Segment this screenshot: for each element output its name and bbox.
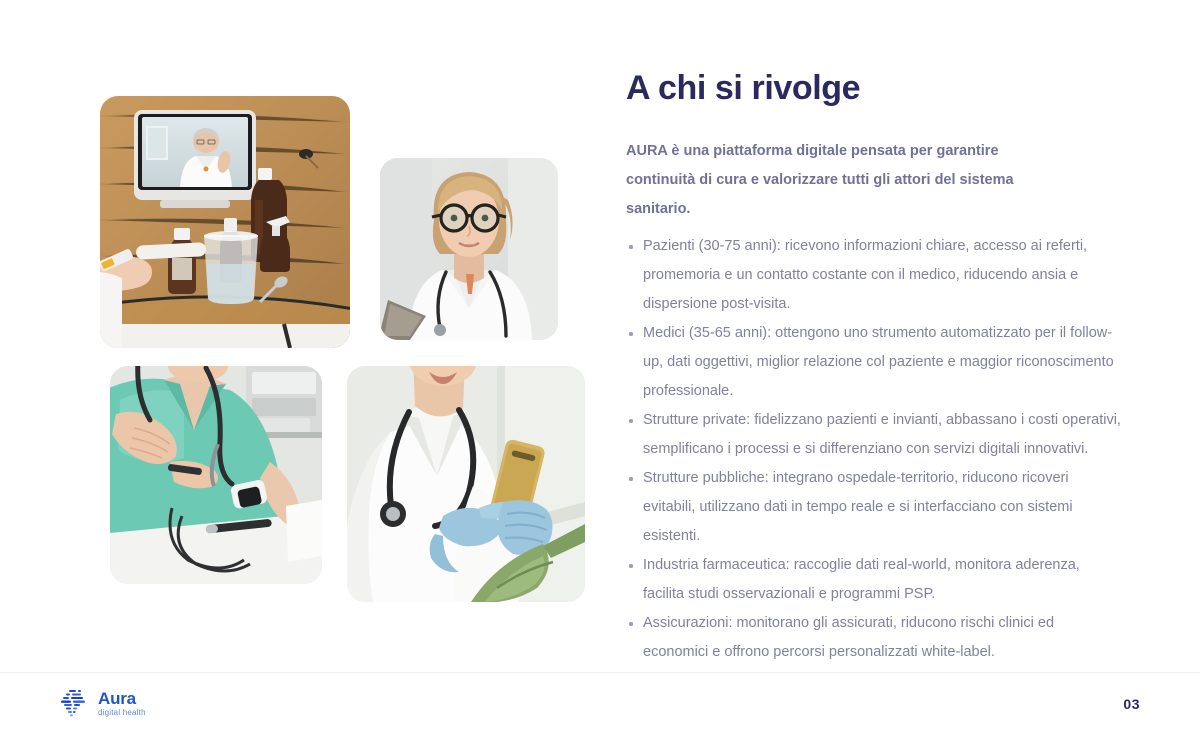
logo-name: Aura — [98, 690, 146, 707]
slide: A chi si rivolge AURA è una piattaforma … — [0, 0, 1200, 738]
list-item: Strutture private: fidelizzano pazienti … — [626, 406, 1122, 464]
logo-text: Aura digital health — [98, 690, 146, 717]
photo-doctor-gloves-smartphone — [347, 366, 585, 602]
nurse-desk-illustration — [110, 366, 322, 584]
brand-logo: Aura digital health — [60, 688, 146, 718]
doctor-phone-illustration — [347, 366, 585, 602]
photo-nurse-teal-scrubs-desk — [110, 366, 322, 584]
telemedicine-illustration — [100, 96, 350, 348]
content-column: A chi si rivolge AURA è una piattaforma … — [626, 70, 1126, 667]
list-item: Pazienti (30-75 anni): ricevono informaz… — [626, 232, 1122, 319]
list-item: Strutture pubbliche: integrano ospedale-… — [626, 464, 1122, 551]
photo-telemedicine-tablet-consult — [100, 96, 350, 348]
image-gallery — [0, 0, 620, 660]
page-title: A chi si rivolge — [626, 70, 1126, 107]
page-number: 03 — [1123, 696, 1140, 712]
audience-list: Pazienti (30-75 anni): ricevono informaz… — [626, 232, 1126, 667]
intro-paragraph: AURA è una piattaforma digitale pensata … — [626, 137, 1056, 224]
list-item: Industria farmaceutica: raccoglie dati r… — [626, 551, 1122, 609]
logo-tagline: digital health — [98, 709, 146, 717]
list-item: Medici (35-65 anni): ottengono uno strum… — [626, 319, 1122, 406]
footer-divider — [0, 672, 1200, 673]
doctor-portrait-illustration — [380, 158, 558, 340]
aura-logo-mark-icon — [60, 688, 90, 718]
photo-doctor-portrait-glasses — [380, 158, 558, 340]
list-item: Assicurazioni: monitorano gli assicurati… — [626, 609, 1122, 667]
